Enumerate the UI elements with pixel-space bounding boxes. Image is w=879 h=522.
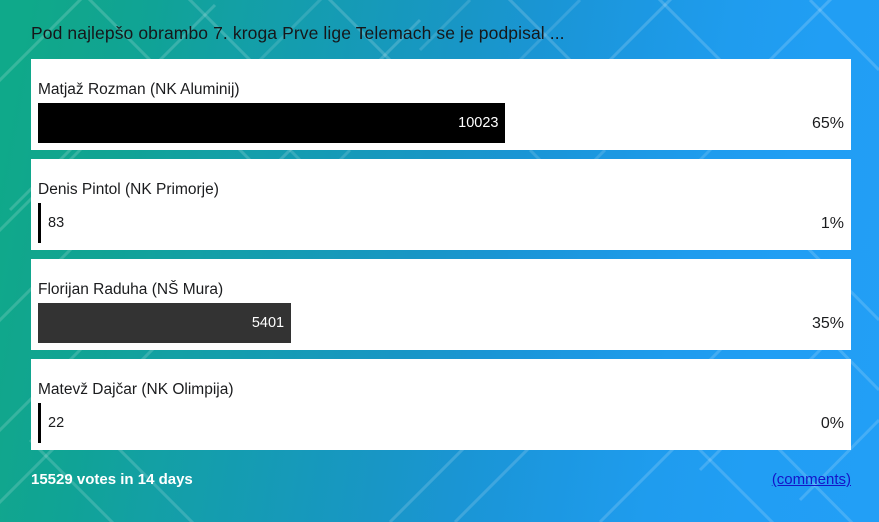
poll-option-votes: 83 bbox=[48, 215, 64, 231]
poll-option-bar-fill bbox=[38, 403, 41, 443]
poll-option-label: Florijan Raduha (NŠ Mura) bbox=[38, 281, 223, 299]
poll-option-bar-track: 83 bbox=[38, 203, 844, 243]
poll-option-bar-fill bbox=[38, 203, 41, 243]
poll-option-bar-track: 22 bbox=[38, 403, 844, 443]
poll-option-row[interactable]: Florijan Raduha (NŠ Mura) 5401 35% bbox=[31, 259, 851, 350]
poll-option-label: Matevž Dajčar (NK Olimpija) bbox=[38, 381, 234, 399]
poll-option-bar-track: 5401 bbox=[38, 303, 844, 343]
poll-option-label: Matjaž Rozman (NK Aluminij) bbox=[38, 81, 240, 99]
poll-footer: 15529 votes in 14 days (comments) bbox=[31, 470, 851, 494]
poll-option-label: Denis Pintol (NK Primorje) bbox=[38, 181, 219, 199]
poll-options-list: Matjaž Rozman (NK Aluminij) 10023 65% De… bbox=[31, 59, 851, 459]
poll-option-bar-fill: 10023 bbox=[38, 103, 505, 143]
poll-option-percent: 65% bbox=[812, 114, 844, 133]
poll-option-percent: 0% bbox=[821, 414, 844, 433]
poll-option-bar-track: 10023 bbox=[38, 103, 844, 143]
votes-summary: 15529 votes in 14 days bbox=[31, 470, 193, 490]
poll-option-votes: 10023 bbox=[458, 115, 498, 131]
poll-question: Pod najlepšo obrambo 7. kroga Prve lige … bbox=[31, 22, 831, 44]
poll-option-votes: 5401 bbox=[252, 315, 284, 331]
poll-option-votes: 22 bbox=[48, 415, 64, 431]
poll-option-row[interactable]: Denis Pintol (NK Primorje) 83 1% bbox=[31, 159, 851, 250]
poll-option-percent: 35% bbox=[812, 314, 844, 333]
comments-link[interactable]: (comments) bbox=[772, 470, 851, 490]
poll-content: Pod najlepšo obrambo 7. kroga Prve lige … bbox=[0, 0, 879, 522]
poll-option-row[interactable]: Matevž Dajčar (NK Olimpija) 22 0% bbox=[31, 359, 851, 450]
poll-option-row[interactable]: Matjaž Rozman (NK Aluminij) 10023 65% bbox=[31, 59, 851, 150]
poll-option-bar-fill: 5401 bbox=[38, 303, 291, 343]
poll-widget: Pod najlepšo obrambo 7. kroga Prve lige … bbox=[0, 0, 879, 522]
poll-option-percent: 1% bbox=[821, 214, 844, 233]
